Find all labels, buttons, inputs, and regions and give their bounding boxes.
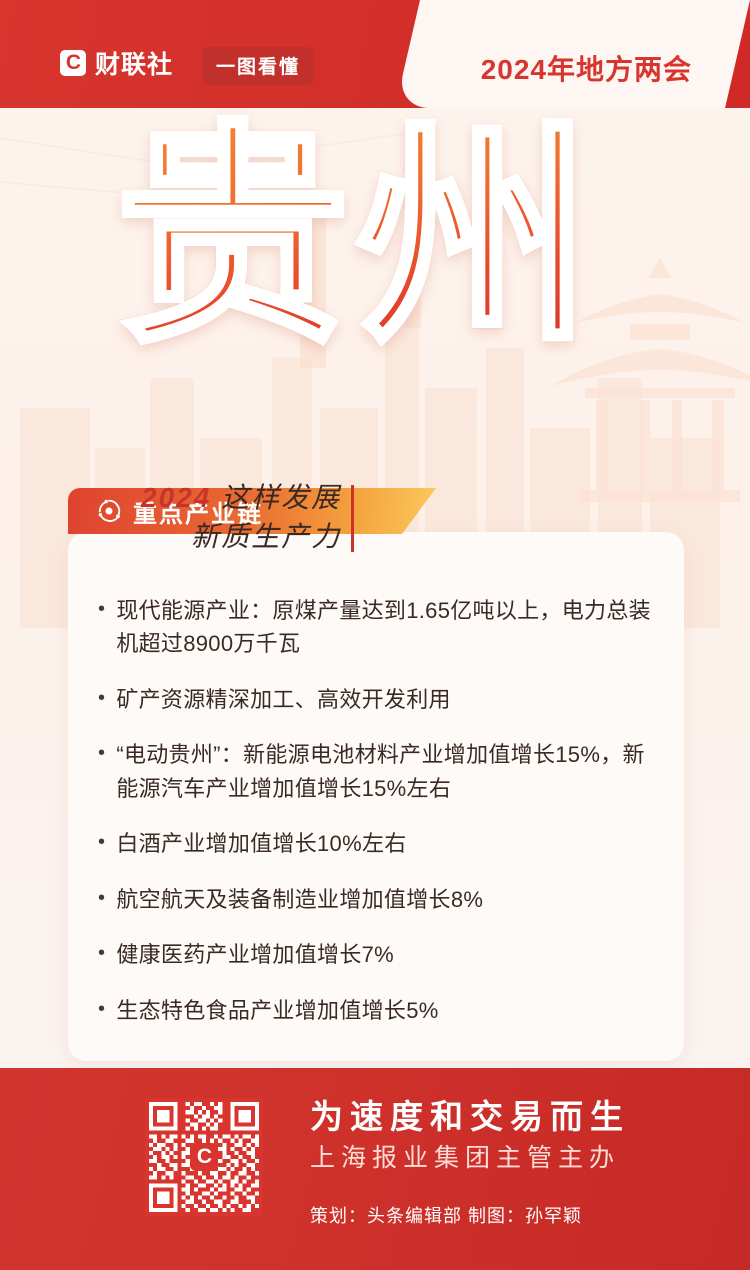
list-item: • 航空航天及装备制造业增加值增长8% — [98, 883, 654, 916]
footer-credits: 策划：头条编辑部 制图：孙罕颖 — [310, 1202, 630, 1228]
hero-subtitle-text-1: 这样发展 — [221, 482, 341, 513]
c-logo-icon: C — [60, 50, 86, 76]
footer-slogan-secondary: 上海报业集团主管主办 — [310, 1141, 630, 1176]
footer-bar: C 为速度和交易而生 上海报业集团主管主办 策划：头条编辑部 制图：孙罕颖 — [0, 1068, 750, 1270]
list-item: • 健康医药产业增加值增长7% — [98, 938, 654, 971]
list-item-text: “电动贵州”：新能源电池材料产业增加值增长15%，新能源汽车产业增加值增长15%… — [116, 738, 654, 805]
brand-logo: C 财联社 — [60, 46, 173, 80]
footer-text-block: 为速度和交易而生 上海报业集团主管主办 策划：头条编辑部 制图：孙罕颖 — [310, 1098, 630, 1228]
qr-code-icon[interactable]: C — [145, 1098, 263, 1216]
event-title: 2024年地方两会 — [481, 48, 692, 88]
bullet-marker-icon: • — [98, 683, 105, 716]
bullet-marker-icon: • — [98, 883, 105, 916]
list-item: • 白酒产业增加值增长10%左右 — [98, 827, 654, 860]
hero-section: 贵州 2024 这样发展 新质生产力 — [0, 108, 750, 508]
list-item-text: 航空航天及装备制造业增加值增长8% — [116, 883, 654, 916]
list-item-text: 健康医药产业增加值增长7% — [116, 938, 654, 971]
qr-center-logo: C — [190, 1143, 218, 1171]
list-item: • 生态特色食品产业增加值增长5% — [98, 994, 654, 1027]
list-item-text: 生态特色食品产业增加值增长5% — [116, 994, 654, 1027]
brand-name-label: 财联社 — [95, 45, 173, 81]
bullet-list: • 现代能源产业：原煤产量达到1.65亿吨以上，电力总装机超过8900万千瓦 •… — [68, 594, 684, 1027]
subtitle-divider-bar — [351, 485, 354, 552]
bullet-marker-icon: • — [98, 738, 105, 805]
bullet-marker-icon: • — [98, 938, 105, 971]
content-card: 重点产业链 • 现代能源产业：原煤产量达到1.65亿吨以上，电力总装机超过890… — [68, 532, 684, 1061]
bullet-marker-icon: • — [98, 827, 105, 860]
footer-slogan-primary: 为速度和交易而生 — [310, 1098, 630, 1139]
list-item: • 矿产资源精深加工、高效开发利用 — [98, 683, 654, 716]
hero-subtitle-line-1: 2024 这样发展 — [141, 481, 341, 516]
atom-orbit-icon — [96, 498, 122, 524]
list-item-text: 现代能源产业：原煤产量达到1.65亿吨以上，电力总装机超过8900万千瓦 — [116, 594, 654, 661]
province-title: 贵州 — [115, 123, 597, 353]
bullet-marker-icon: • — [98, 994, 105, 1027]
top-header-bar: C 财联社 一图看懂 2024年地方两会 — [0, 0, 750, 108]
list-item-text: 矿产资源精深加工、高效开发利用 — [116, 683, 654, 716]
hero-subtitle-line-2: 新质生产力 — [141, 520, 341, 555]
list-item: • 现代能源产业：原煤产量达到1.65亿吨以上，电力总装机超过8900万千瓦 — [98, 594, 654, 661]
hero-subtitle-year: 2024 — [141, 482, 211, 513]
list-item: • “电动贵州”：新能源电池材料产业增加值增长15%，新能源汽车产业增加值增长1… — [98, 738, 654, 805]
list-item-text: 白酒产业增加值增长10%左右 — [116, 827, 654, 860]
poster-root: C 财联社 一图看懂 2024年地方两会 — [0, 0, 750, 1270]
bullet-marker-icon: • — [98, 594, 105, 661]
hero-subtitle: 2024 这样发展 新质生产力 — [141, 481, 354, 554]
yitukandong-badge: 一图看懂 — [202, 47, 314, 85]
